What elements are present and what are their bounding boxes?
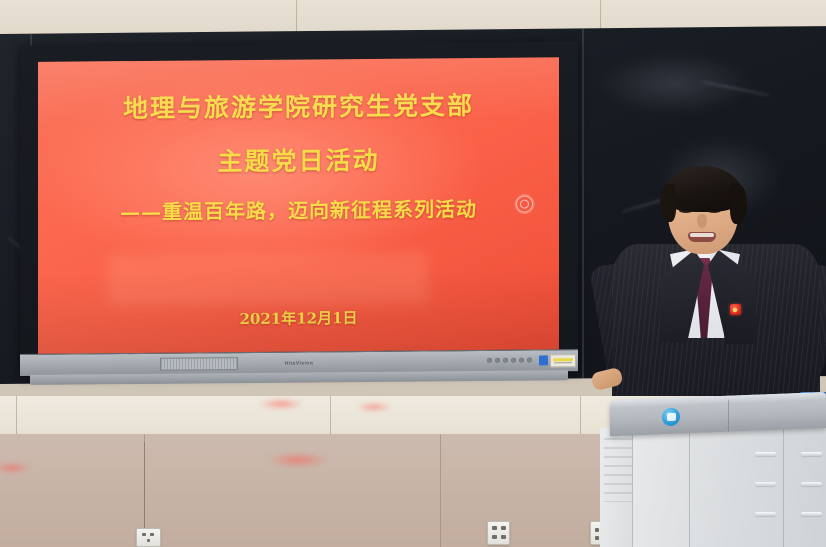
lectern-handle-2[interactable] [755,482,776,486]
lectern-handle-1[interactable] [755,452,776,456]
presenter [612,158,820,423]
wall-conduit [144,442,145,528]
classroom-photo: 地理与旅游学院研究生党支部 主题党日活动 ——重温百年路，迈向新征程系列活动 2… [0,0,826,547]
display-button-5[interactable] [519,358,524,363]
usb-port-icon[interactable] [539,355,548,365]
slide-subtitle: ——重温百年路，迈向新征程系列活动 [38,192,559,226]
wall-socket-left[interactable] [136,528,161,547]
display-button-3[interactable] [503,358,508,363]
display-button-2[interactable] [495,358,500,363]
lectern-handle-4[interactable] [801,452,822,456]
speaker-grille [160,357,238,371]
slide-light-patch [108,251,428,306]
display-control-buttons[interactable] [487,358,532,363]
presentation-slide: 地理与旅游学院研究生党支部 主题党日活动 ——重温百年路，迈向新征程系列活动 2… [38,57,559,354]
presenter-nose [697,214,707,228]
slide-title-line-1: 地理与旅游学院研究生党支部 [38,85,559,126]
display-button-6[interactable] [527,358,532,363]
wall-switch-center[interactable] [487,521,510,545]
interactive-flat-panel-display[interactable]: 地理与旅游学院研究生党支部 主题党日活动 ——重温百年路，迈向新征程系列活动 2… [20,41,578,376]
slide-title-line-2: 主题党日活动 [38,139,559,180]
lectern-handle-3[interactable] [755,512,776,516]
display-brand-label: HiteVision [285,360,313,366]
lectern-body [632,424,826,547]
slide-date: 2021年12月1日 [38,305,559,331]
display-button-4[interactable] [511,358,516,363]
presenter-hair-right [730,184,747,224]
lectern-handle-5[interactable] [801,482,822,486]
equipment-sticker [550,354,576,367]
lectern-handle-6[interactable] [801,512,822,516]
presenter-mouth [688,232,716,242]
party-emblem-watermark-icon [516,196,533,213]
school-logo-sticker-icon [662,408,680,427]
party-emblem-pin-icon [730,304,741,315]
presenter-hair-left [660,184,676,222]
display-button-1[interactable] [487,358,492,363]
